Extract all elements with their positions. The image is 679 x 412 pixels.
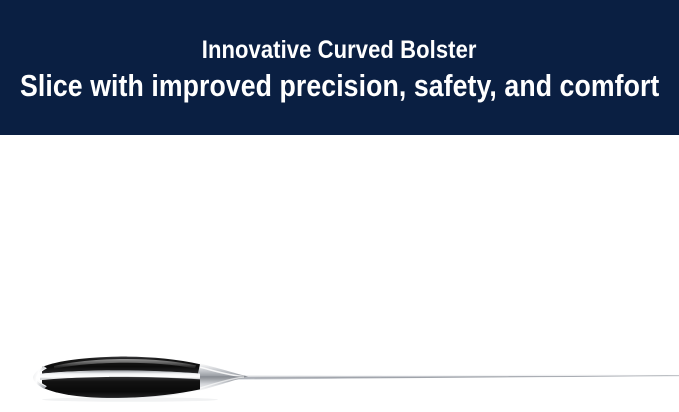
promo-banner: Innovative Curved Bolster Slice with imp… <box>0 0 679 412</box>
subheadline: Slice with improved precision, safety, a… <box>20 67 659 105</box>
headline: Innovative Curved Bolster <box>202 35 477 65</box>
knife-contact-shadow <box>42 397 218 401</box>
knife-product-image <box>0 342 679 412</box>
header-text-block: Innovative Curved Bolster Slice with imp… <box>0 0 679 135</box>
product-stage <box>0 135 679 412</box>
knife-illustration <box>0 342 679 412</box>
header-band: Innovative Curved Bolster Slice with imp… <box>0 0 679 135</box>
